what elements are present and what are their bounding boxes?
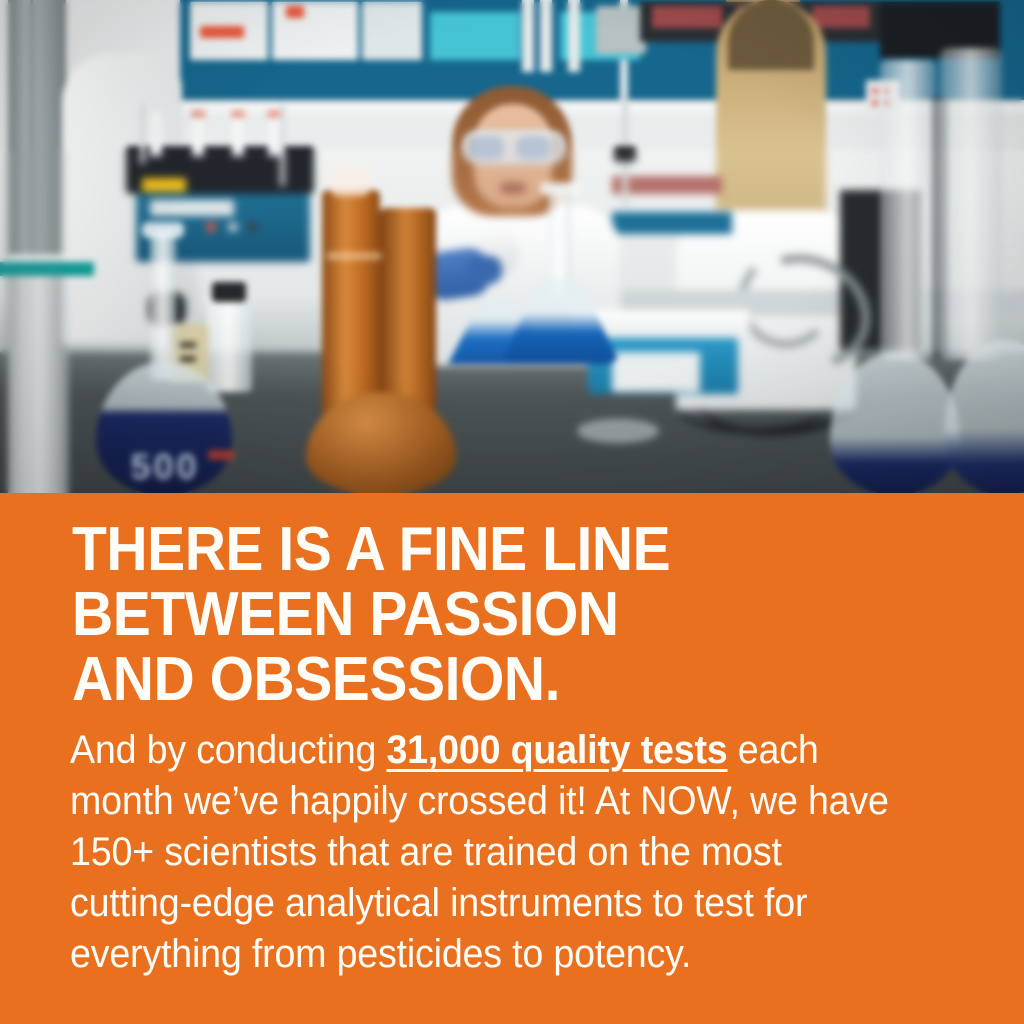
sample-vial	[192, 112, 204, 156]
quality-tests-highlight: 31,000 quality tests	[386, 728, 727, 772]
shelf-cyan-container	[430, 12, 520, 60]
body-copy: And by conducting 31,000 quality tests e…	[70, 725, 897, 980]
reagent-bottle	[206, 296, 252, 392]
headline: THERE IS A FINE LINE BETWEEN PASSION AND…	[72, 517, 900, 712]
center-flask-lip	[540, 182, 580, 195]
back-blue-equipment	[612, 212, 732, 234]
shelf-box-label	[286, 6, 304, 18]
teal-bench-stripe	[58, 262, 94, 276]
back-red-equipment	[612, 176, 722, 194]
flask-red-marking	[208, 450, 234, 460]
sample-vial	[232, 112, 244, 156]
amber-glass-stopper	[330, 166, 370, 196]
blue-glove-fingers	[468, 256, 502, 284]
foreground-glass-cylinder	[8, 268, 70, 493]
bench-power-outlet-slot	[180, 356, 196, 362]
sample-vial	[150, 112, 162, 156]
right-cabinet-item	[652, 6, 722, 28]
foreground-flask-left-neck	[150, 230, 176, 380]
amber-glass-graduation	[326, 252, 382, 260]
wall-outlet-indicator	[872, 88, 878, 94]
amber-glass-column	[322, 190, 380, 422]
instrument-indicator	[248, 222, 258, 232]
back-stand-clamp	[614, 146, 636, 162]
flask-volume-label: 500	[110, 446, 220, 486]
shelf-box	[362, 2, 422, 60]
body-copy-lead: And by conducting	[70, 728, 386, 772]
shelf-tube	[568, 0, 580, 72]
social-card: 500 THERE IS A FINE LINE BETWEEN PASSION…	[0, 0, 1024, 1024]
instrument-indicator	[228, 222, 238, 232]
orange-message-panel: THERE IS A FINE LINE BETWEEN PASSION AND…	[0, 493, 1024, 1024]
lab-stand-rod	[140, 104, 145, 164]
sample-vial	[268, 112, 280, 156]
foreground-flask-left-lip	[142, 222, 184, 238]
bench-power-outlet-slot	[180, 342, 196, 348]
shelf-box	[272, 2, 358, 60]
foreground-scientist-mouth	[500, 182, 526, 194]
shelf-tube	[522, 0, 534, 72]
sample-vial-cap	[267, 110, 281, 118]
instrument-indicator	[206, 222, 216, 232]
wall-outlet-indicator	[872, 100, 878, 106]
power-cable	[676, 378, 826, 434]
petri-dish	[578, 420, 658, 442]
shelf-grey-container	[596, 6, 646, 54]
safety-goggles-lens	[516, 136, 550, 160]
foreground-glass-column-right	[880, 60, 936, 360]
lab-stand-rod	[280, 104, 285, 186]
foreground-glass-column-far-right	[940, 48, 1002, 360]
reagent-bottle-cap	[212, 282, 246, 302]
safety-goggles-lens	[470, 136, 504, 160]
laboratory-photo: 500	[0, 0, 1024, 493]
shelf-box-label	[200, 26, 244, 38]
instrument-display	[150, 200, 234, 216]
sample-vial-cap	[191, 110, 205, 118]
right-cabinet-item	[812, 6, 870, 28]
instrument-yellow-label	[142, 178, 186, 192]
shelf-tube	[540, 0, 552, 72]
sample-vial-cap	[231, 110, 245, 118]
amber-glass-column	[380, 208, 436, 422]
